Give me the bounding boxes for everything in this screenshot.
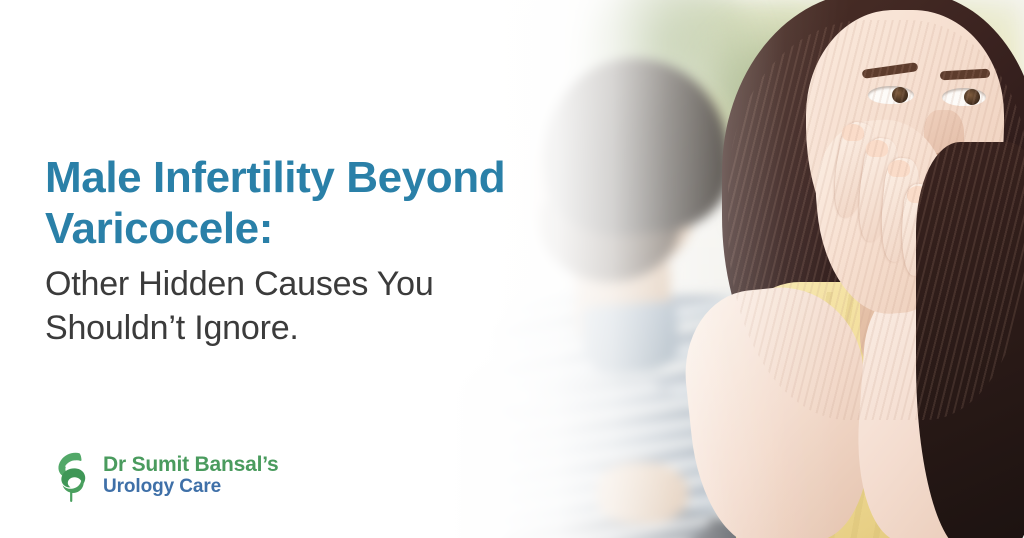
subheadline-line-2: Shouldn’t Ignore. bbox=[45, 309, 299, 347]
promo-banner: Male Infertility Beyond Varicocele: Othe… bbox=[0, 0, 1024, 538]
brand-logo[interactable]: Dr Sumit Bansal’s Urology Care bbox=[52, 450, 279, 502]
headline: Male Infertility Beyond Varicocele: bbox=[45, 152, 645, 254]
subheadline: Other Hidden Causes You Shouldn’t Ignore… bbox=[45, 262, 605, 350]
headline-line-1: Male Infertility Beyond bbox=[45, 153, 505, 202]
woman-hair-highlights bbox=[728, 20, 1024, 420]
text-content: Male Infertility Beyond Varicocele: Othe… bbox=[0, 0, 660, 538]
headline-line-2: Varicocele: bbox=[45, 204, 273, 253]
subheadline-line-1: Other Hidden Causes You bbox=[45, 265, 434, 303]
logo-primary-text: Dr Sumit Bansal’s bbox=[103, 454, 279, 477]
logo-wordmark: Dr Sumit Bansal’s Urology Care bbox=[103, 454, 279, 499]
logo-secondary-text: Urology Care bbox=[103, 476, 279, 498]
kidney-leaf-icon bbox=[52, 450, 92, 502]
woman-figure bbox=[710, 0, 1024, 538]
